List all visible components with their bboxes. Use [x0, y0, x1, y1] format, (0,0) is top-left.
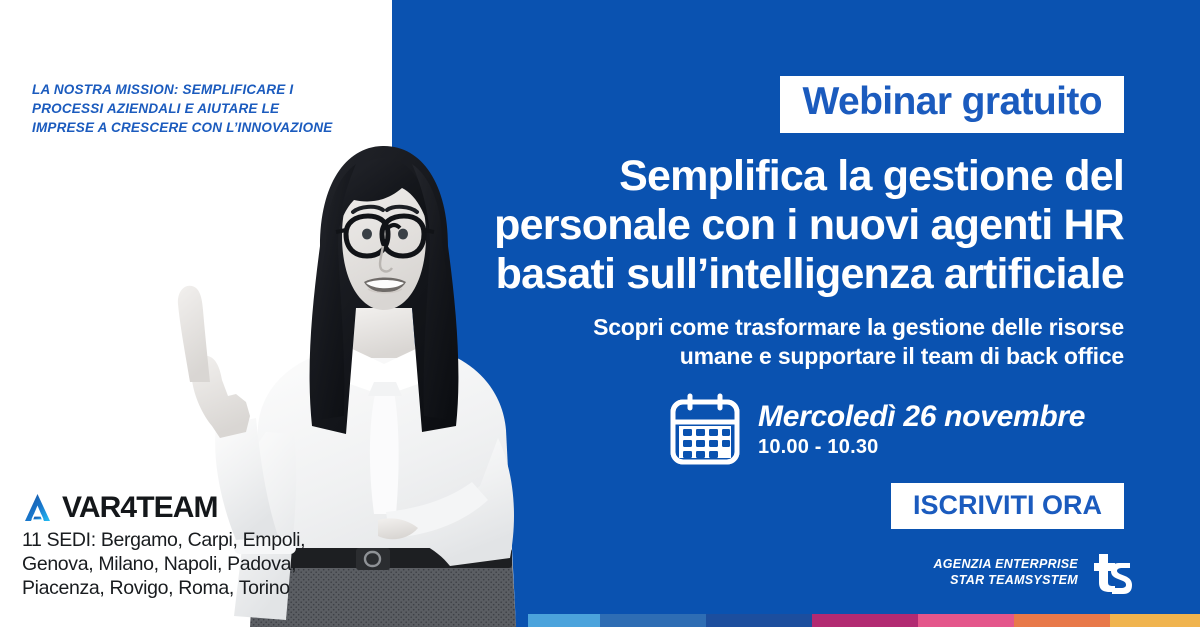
- calendar-icon: [668, 393, 742, 467]
- headline-line-2: personale con i nuovi agenti HR: [434, 201, 1124, 250]
- partner-line-1: AGENZIA ENTERPRISE: [933, 556, 1078, 572]
- teamsystem-ts-logo: [1090, 550, 1134, 594]
- company-logo: VAR4TEAM: [22, 492, 318, 523]
- event-datetime: Mercoledì 26 novembre 10.00 - 10.30: [668, 393, 1085, 467]
- page-title: Semplifica la gestione del personale con…: [434, 152, 1124, 299]
- subtitle-line-2: umane e supportare il team di back offic…: [464, 342, 1124, 371]
- partner-line-2: STAR TEAMSYSTEM: [933, 572, 1078, 588]
- webinar-free-badge: Webinar gratuito: [780, 76, 1124, 133]
- stripe-segment-2: [600, 614, 706, 627]
- stripe-segment-7: [1110, 614, 1200, 627]
- company-brand-block: VAR4TEAM 11 SEDI: Bergamo, Carpi, Empoli…: [22, 492, 318, 600]
- headline-line-3: basati sull’intelligenza artificiale: [434, 250, 1124, 299]
- event-date: Mercoledì 26 novembre: [758, 401, 1085, 433]
- stripe-segment-4: [812, 614, 918, 627]
- company-locations: 11 SEDI: Bergamo, Carpi, Empoli, Genova,…: [22, 529, 318, 600]
- var4team-a-mark-icon: [22, 492, 53, 523]
- register-now-button-label: ISCRIVITI ORA: [913, 490, 1102, 520]
- register-now-button[interactable]: ISCRIVITI ORA: [891, 483, 1124, 529]
- stripe-segment-6: [1014, 614, 1110, 627]
- subtitle: Scopri come trasformare la gestione dell…: [464, 313, 1124, 372]
- subtitle-line-1: Scopri come trasformare la gestione dell…: [464, 313, 1124, 342]
- bottom-color-stripe: [528, 614, 1200, 627]
- headline-line-1: Semplifica la gestione del: [434, 152, 1124, 201]
- event-time: 10.00 - 10.30: [758, 435, 1085, 459]
- stripe-segment-5: [918, 614, 1014, 627]
- mission-statement: LA NOSTRA MISSION: SEMPLIFICARE I PROCES…: [32, 80, 352, 137]
- webinar-promo-banner: LA NOSTRA MISSION: SEMPLIFICARE I PROCES…: [0, 0, 1200, 627]
- partner-badge-text: AGENZIA ENTERPRISE STAR TEAMSYSTEM: [933, 556, 1078, 589]
- company-name: VAR4TEAM: [62, 493, 218, 523]
- event-datetime-text: Mercoledì 26 novembre 10.00 - 10.30: [758, 401, 1085, 459]
- stripe-segment-3: [706, 614, 812, 627]
- partner-badge: AGENZIA ENTERPRISE STAR TEAMSYSTEM: [933, 550, 1134, 594]
- webinar-free-badge-label: Webinar gratuito: [802, 82, 1102, 123]
- stripe-segment-1: [528, 614, 600, 627]
